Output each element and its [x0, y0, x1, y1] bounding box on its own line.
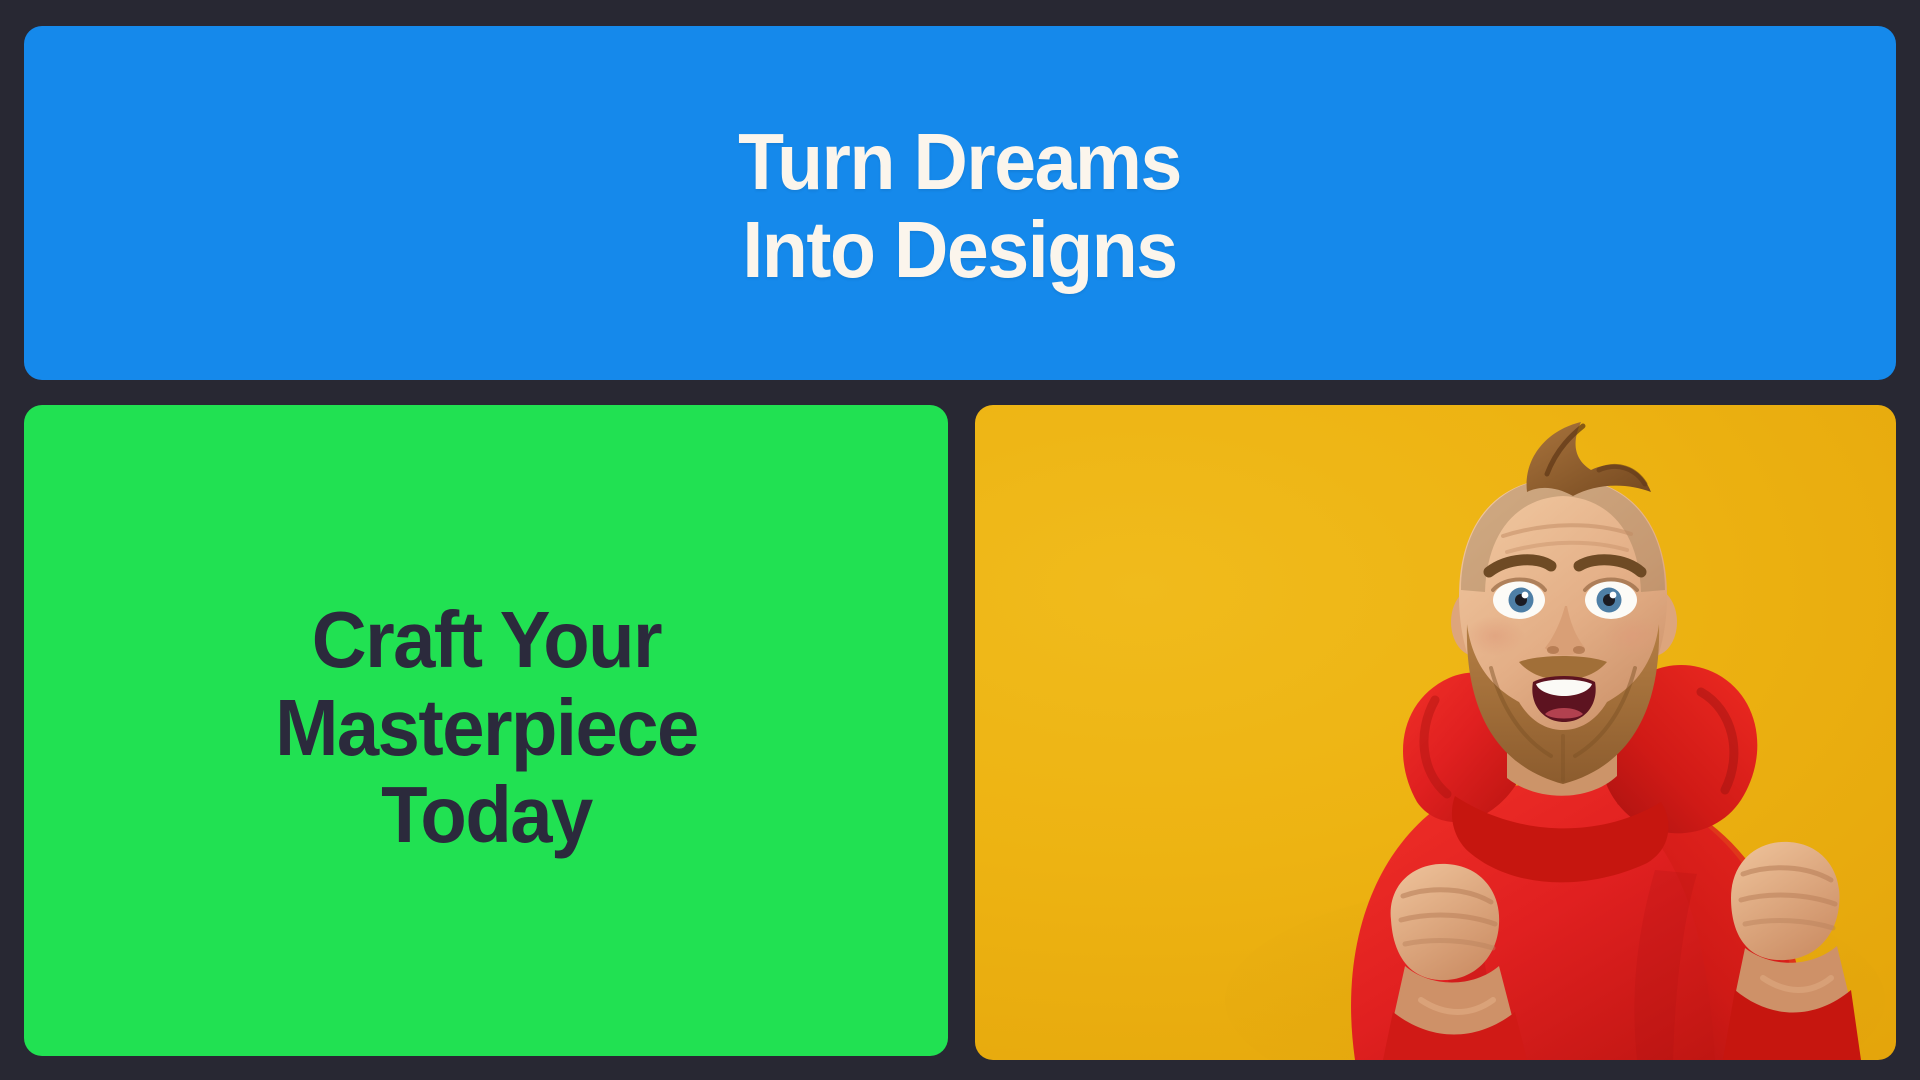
- excited-man-photo: [1155, 405, 1896, 1060]
- green-card-heading: Craft Your Masterpiece Today: [275, 599, 698, 862]
- blue-heading-line-2: Into Designs: [739, 211, 1182, 289]
- card-collage: Turn Dreams Into Designs Craft Your Mast…: [0, 0, 1920, 1080]
- yellow-photo-card[interactable]: [975, 405, 1896, 1060]
- green-heading-line-2: Masterpiece: [275, 687, 698, 769]
- blue-headline-card[interactable]: Turn Dreams Into Designs: [24, 26, 1896, 380]
- green-headline-card[interactable]: Craft Your Masterpiece Today: [24, 405, 948, 1056]
- green-heading-line-3: Today: [275, 774, 698, 856]
- blue-heading-line-1: Turn Dreams: [739, 123, 1182, 201]
- green-heading-line-1: Craft Your: [275, 599, 698, 681]
- blue-card-heading: Turn Dreams Into Designs: [739, 117, 1182, 290]
